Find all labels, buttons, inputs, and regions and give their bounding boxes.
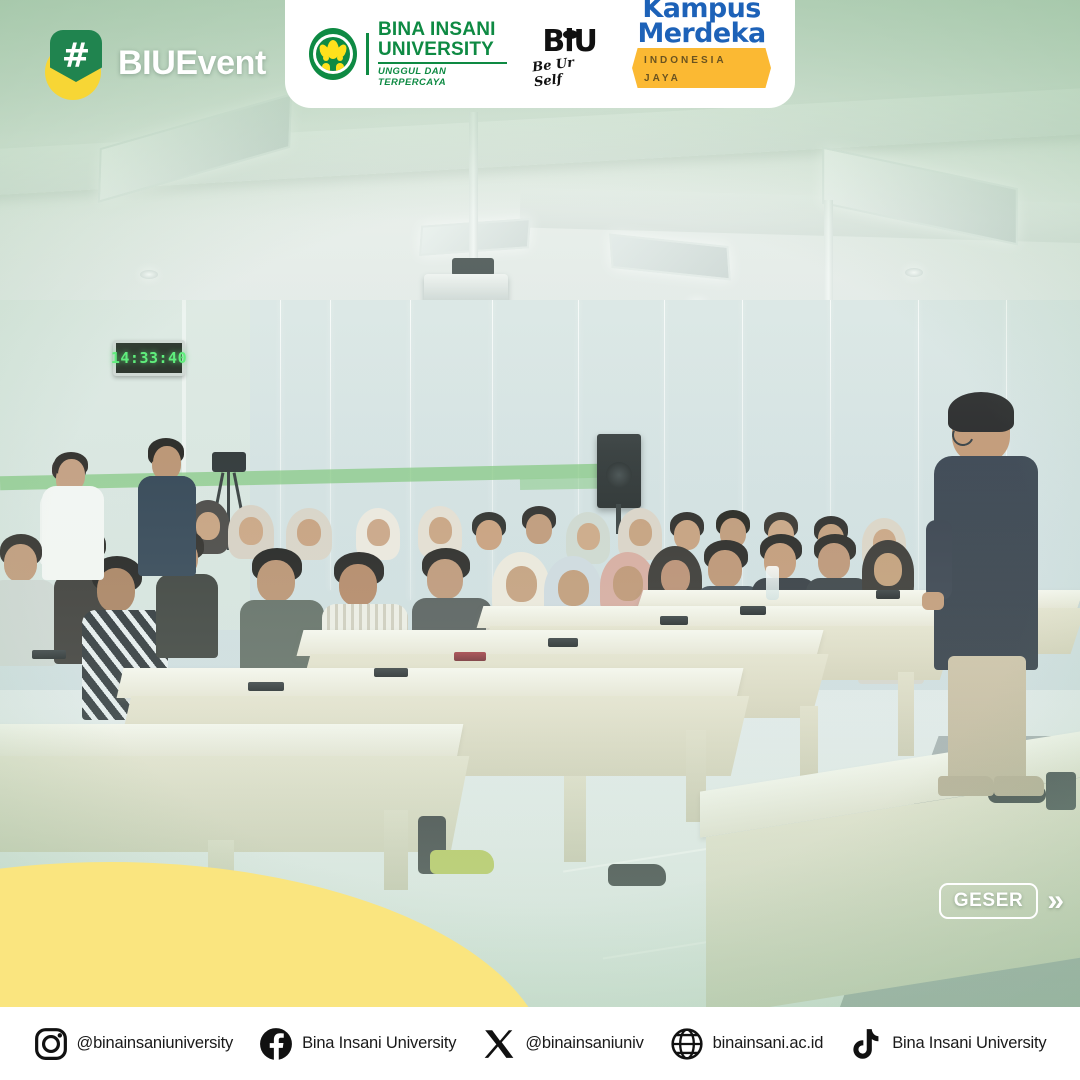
kampus-merdeka-logo: Kampus Merdeka INDONESIA JAYA — [632, 0, 771, 88]
swipe-label[interactable]: GESER — [939, 883, 1039, 919]
attendee-shoe — [608, 864, 666, 886]
window-blind-seam — [410, 300, 411, 600]
downlight — [905, 268, 923, 277]
desk-leg — [564, 776, 586, 862]
phone-on-desk — [876, 590, 900, 599]
window-blind-seam — [918, 300, 919, 600]
phone-on-desk — [548, 638, 578, 647]
event-photo: 14:33:40 — [0, 0, 1080, 1007]
hashtag-badge: # — [40, 30, 106, 96]
phone-on-desk — [454, 652, 486, 661]
social-media-bar: @binainsaniuniversity Bina Insani Univer… — [0, 1007, 1080, 1080]
phone-on-desk — [660, 616, 688, 625]
equipment-box — [1046, 772, 1076, 810]
desk — [477, 606, 954, 628]
bina-insani-emblem-icon — [309, 28, 357, 80]
chevron-right-icon: » — [1047, 886, 1058, 916]
social-item-instagram[interactable]: @binainsaniuniversity — [34, 1027, 234, 1061]
facebook-icon — [259, 1027, 293, 1061]
presenter-arm — [926, 520, 952, 600]
downlight — [140, 270, 158, 279]
swipe-indicator[interactable]: GESER » — [939, 883, 1058, 919]
projector-pole — [469, 112, 478, 262]
desk-leg — [384, 810, 408, 890]
presenter-legs — [948, 656, 1026, 786]
logo-rule — [378, 62, 507, 64]
window-blind-seam — [492, 300, 493, 600]
social-item-x[interactable]: @binainsaniuniv — [482, 1027, 643, 1061]
social-handle: Bina Insani University — [302, 1034, 456, 1053]
video-camera — [212, 452, 246, 472]
logo-panel: BINA INSANI UNIVERSITY UNGGUL DAN TERPER… — [285, 0, 795, 108]
biuevent-branding: # BIUEvent — [40, 30, 266, 96]
social-handle: @binainsaniuniv — [525, 1034, 643, 1053]
digital-wall-clock: 14:33:40 — [113, 340, 185, 376]
presenter-shoe — [994, 776, 1044, 796]
window-blind-seam — [280, 300, 281, 580]
hash-icon: # — [50, 30, 102, 82]
kampus-merdeka-ribbon: INDONESIA JAYA — [632, 48, 771, 88]
social-post-canvas: 14:33:40 — [0, 0, 1080, 1080]
pa-speaker — [597, 434, 641, 508]
tiktok-icon — [849, 1027, 883, 1061]
social-item-website[interactable]: binainsani.ac.id — [670, 1027, 824, 1061]
social-handle: @binainsaniuniversity — [77, 1034, 234, 1053]
kampus-merdeka-line2: Merdeka — [637, 21, 765, 46]
biu-beurself-logo: BiU Be Ur Self — [533, 26, 606, 88]
kampus-merdeka-ribbon-text: INDONESIA JAYA — [644, 55, 726, 84]
globe-icon — [670, 1027, 704, 1061]
desk — [0, 724, 463, 758]
university-name-line2: UNIVERSITY — [378, 40, 507, 59]
presenter-hand — [922, 592, 944, 610]
phone-on-desk — [374, 668, 408, 677]
social-item-tiktok[interactable]: Bina Insani University — [849, 1027, 1046, 1061]
phone-on-desk — [740, 606, 766, 615]
university-name-line1: BINA INSANI — [378, 20, 507, 39]
instagram-icon — [34, 1027, 68, 1061]
phone-on-desk — [248, 682, 284, 691]
logo-divider — [366, 33, 369, 75]
university-tagline: UNGGUL DAN TERPERCAYA — [378, 66, 507, 88]
bina-insani-university-logo: BINA INSANI UNIVERSITY UNGGUL DAN TERPER… — [309, 20, 507, 88]
desk — [117, 668, 744, 698]
presenter-shoe — [938, 776, 994, 796]
social-handle: binainsani.ac.id — [713, 1034, 824, 1053]
desk-leg — [898, 672, 914, 756]
clock-time: 14:33:40 — [111, 349, 187, 367]
social-item-facebook[interactable]: Bina Insani University — [259, 1027, 456, 1061]
water-bottle — [766, 566, 779, 600]
social-handle: Bina Insani University — [892, 1034, 1046, 1053]
biuevent-label: BIUEvent — [118, 44, 266, 83]
x-twitter-icon — [482, 1027, 516, 1061]
phone-on-desk — [32, 650, 66, 659]
attendee-shoe — [430, 850, 494, 874]
